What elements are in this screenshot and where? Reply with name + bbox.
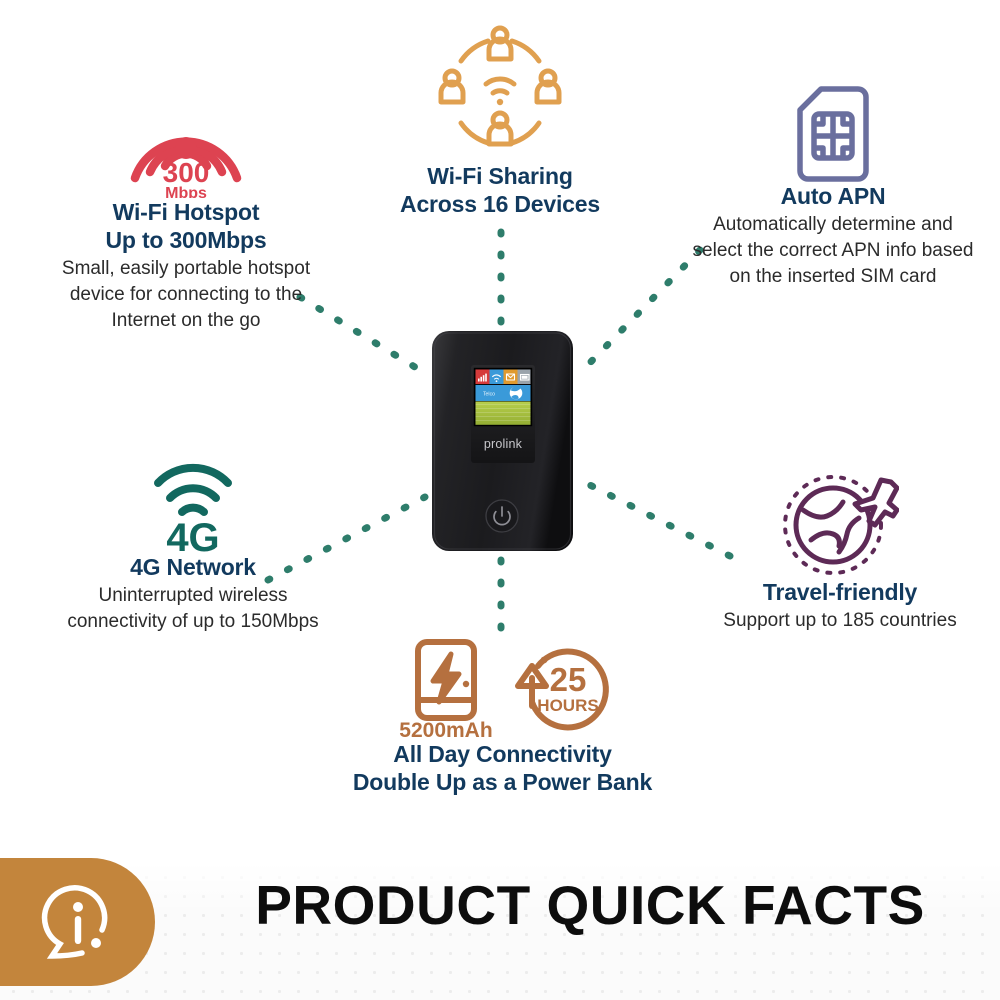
feature-all-day-connectivity: 5200mAh 25 HOURS All Day Connectivity Do… xyxy=(325,636,680,796)
signal-waves-icon-wrap: 300 Mbps xyxy=(36,88,336,198)
feature-title-line2: Double Up as a Power Bank xyxy=(353,769,652,795)
battery-capacity-label: 5200mAh xyxy=(399,719,492,740)
feature-title-line1: Wi-Fi Sharing xyxy=(427,163,572,189)
screen-tile-mail xyxy=(504,370,518,385)
signal-speed-unit: Mbps xyxy=(165,185,207,198)
feature-title-line2: Across 16 Devices xyxy=(400,191,600,217)
feature-title: Auto APN xyxy=(688,182,978,210)
hours-value: 25 xyxy=(549,661,586,698)
infographic-page: 300 Mbps Wi-Fi Hotspot Up to 300Mbps Sma… xyxy=(0,0,1000,1000)
feature-wifi-hotspot: 300 Mbps Wi-Fi Hotspot Up to 300Mbps Sma… xyxy=(36,88,336,334)
feature-body: Uninterrupted wireless connectivity of u… xyxy=(48,583,338,635)
signal-speed-value: 300 xyxy=(163,157,210,188)
network-generation-label: 4G xyxy=(166,516,219,553)
feature-title: 4G Network xyxy=(48,553,338,581)
4g-signal-icon: 4G xyxy=(145,457,241,553)
4g-signal-icon-wrap: 4G xyxy=(48,455,338,553)
users-wifi-network-icon xyxy=(430,22,570,162)
sim-card-icon-wrap xyxy=(688,82,978,182)
feature-auto-apn: Auto APN Automatically determine and sel… xyxy=(688,82,978,290)
feature-title-line2: Up to 300Mbps xyxy=(106,227,267,253)
feature-body: Support up to 185 countries xyxy=(700,608,980,634)
users-wifi-network-icon-wrap xyxy=(365,22,635,162)
connector-apn xyxy=(578,250,700,375)
feature-wifi-sharing: Wi-Fi Sharing Across 16 Devices xyxy=(365,22,635,218)
sim-card-icon xyxy=(797,86,869,182)
screen-tile-signal xyxy=(476,370,490,385)
feature-body: Small, easily portable hotspot device fo… xyxy=(36,256,336,333)
info-speech-bubble-icon xyxy=(36,880,120,964)
device-brand-label: prolink xyxy=(484,437,523,451)
power-icons-wrap: 5200mAh 25 HOURS xyxy=(325,636,680,740)
feature-title: All Day Connectivity Double Up as a Powe… xyxy=(325,740,680,796)
device-power-button[interactable] xyxy=(486,500,518,532)
feature-title: Travel-friendly xyxy=(700,578,980,606)
feature-4g-network: 4G 4G Network Uninterrupted wireless con… xyxy=(48,455,338,635)
globe-airplane-icon-wrap xyxy=(700,468,980,578)
feature-travel-friendly: Travel-friendly Support up to 185 countr… xyxy=(700,468,980,634)
screen-lower-panel xyxy=(476,402,531,426)
globe-airplane-icon xyxy=(781,472,899,578)
signal-waves-icon: 300 Mbps xyxy=(124,90,248,198)
banner-title: PRODUCT QUICK FACTS xyxy=(195,878,985,933)
feature-title: Wi-Fi Hotspot Up to 300Mbps xyxy=(36,198,336,254)
hours-cycle-icon: 25 HOURS xyxy=(508,644,612,740)
feature-title-line1: Wi-Fi Hotspot xyxy=(113,199,260,225)
feature-title: Wi-Fi Sharing Across 16 Devices xyxy=(365,162,635,218)
feature-title-line1: All Day Connectivity xyxy=(393,741,611,767)
hours-unit: HOURS xyxy=(537,696,598,715)
feature-body: Automatically determine and select the c… xyxy=(688,212,978,289)
screen-band-label: Telco xyxy=(483,392,495,398)
device-screen: Telco xyxy=(475,369,532,426)
banner-badge xyxy=(0,858,155,986)
hotspot-device-image: Telco prolink xyxy=(431,330,574,552)
battery-bolt-icon: 5200mAh xyxy=(394,636,498,740)
